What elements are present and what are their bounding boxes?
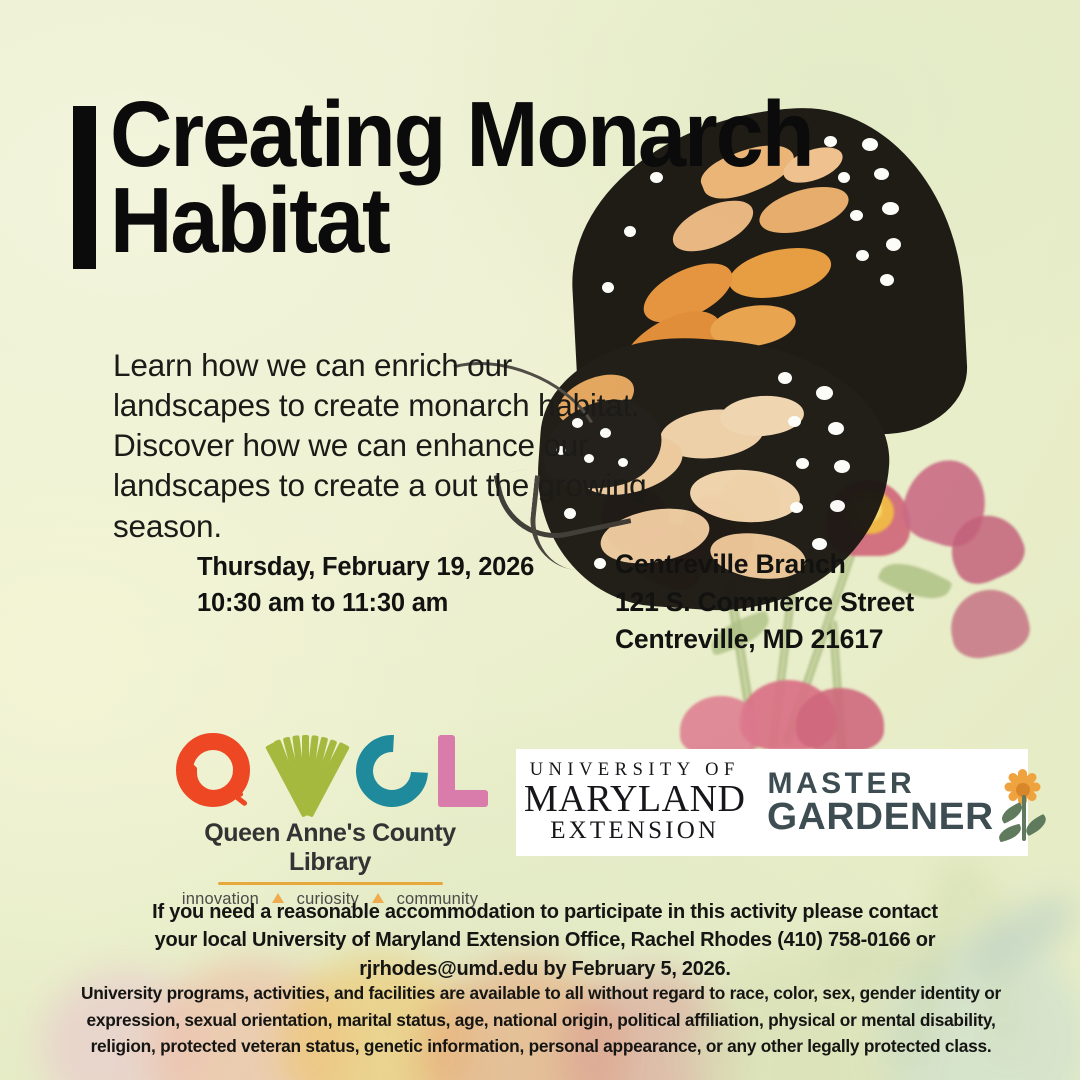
umd-master-gardener-logo[interactable]: UNIVERSITY OF MARYLAND EXTENSION MASTER … — [516, 749, 1028, 856]
umd-line-maryland: MARYLAND — [524, 781, 745, 817]
venue-street: 121 S. Commerce Street — [615, 584, 1035, 622]
master-gardener-wordmark: MASTER GARDENER — [767, 770, 989, 835]
accommodation-notice: If you need a reasonable accommodation t… — [150, 898, 940, 983]
mg-line-gardener: GARDENER — [767, 799, 994, 835]
description-text: Learn how we can enrich our landscapes t… — [113, 345, 673, 547]
umd-extension-wordmark: UNIVERSITY OF MARYLAND EXTENSION — [516, 760, 745, 844]
qacl-letter-c-icon — [341, 720, 443, 822]
event-date: Thursday, February 19, 2026 — [197, 549, 597, 585]
flower-icon — [992, 763, 1054, 843]
mg-line-master: MASTER — [767, 770, 989, 799]
title-line-2: Habitat — [110, 178, 854, 264]
venue-name: Centreville Branch — [615, 546, 1035, 584]
qacl-letter-l-icon — [438, 735, 488, 807]
qacl-logo[interactable]: Queen Anne's County Library innovation c… — [170, 733, 490, 863]
venue-city-state-zip: Centreville, MD 21617 — [615, 621, 1035, 659]
umd-line-extension: EXTENSION — [524, 817, 745, 845]
qacl-library-name: Queen Anne's County Library — [170, 819, 490, 877]
event-time: 10:30 am to 11:30 am — [197, 585, 597, 621]
qacl-lettermarks — [170, 733, 490, 815]
nondiscrimination-statement: University programs, activities, and fac… — [60, 980, 1022, 1059]
event-poster: Creating Monarch Habitat Learn how we ca… — [0, 0, 1080, 1080]
master-gardener-lockup: MASTER GARDENER — [745, 763, 1053, 843]
qacl-letter-a-icon — [264, 735, 346, 815]
page-title: Creating Monarch Habitat — [110, 92, 854, 263]
event-location: Centreville Branch 121 S. Commerce Stree… — [615, 546, 1035, 659]
qacl-divider-rule — [218, 882, 443, 885]
qacl-letter-q-tail-icon — [230, 789, 252, 805]
title-accent-bar — [73, 106, 96, 269]
event-datetime: Thursday, February 19, 2026 10:30 am to … — [197, 549, 597, 621]
